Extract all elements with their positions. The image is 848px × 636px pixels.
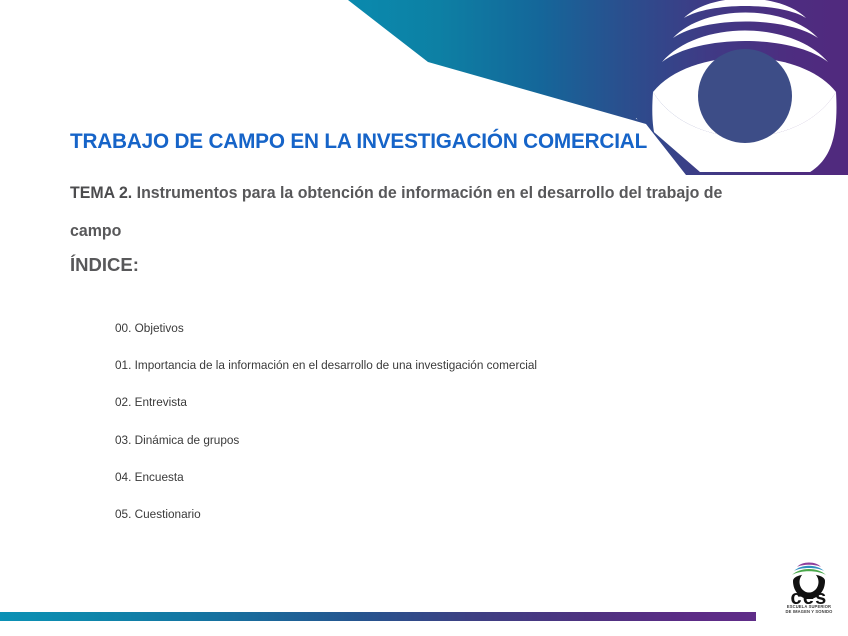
logo-tagline-line2: DE IMAGEN Y SONIDO (777, 609, 841, 614)
subtitle-body-text: Instrumentos para la obtención de inform… (70, 184, 722, 240)
slide-subtitle: TEMA 2. Instrumentos para la obtención d… (70, 154, 746, 250)
list-item: 02. Entrevista (115, 384, 723, 421)
index-list: 00. Objetivos 01. Importancia de la info… (115, 310, 755, 533)
ces-eye-icon: ces (777, 558, 841, 604)
index-heading: ÍNDICE: (70, 250, 770, 278)
list-item: 04. Encuesta (115, 459, 723, 496)
list-item: 00. Objetivos (115, 310, 723, 347)
presentation-slide: TRABAJO DE CAMPO EN LA INVESTIGACIÓN COM… (0, 0, 848, 636)
eye-arcs (662, 0, 828, 62)
list-item: 05. Cuestionario (115, 496, 723, 533)
svg-text:ces: ces (791, 587, 828, 604)
list-item: 03. Dinámica de grupos (115, 422, 723, 459)
page-title: TRABAJO DE CAMPO EN LA INVESTIGACIÓN COM… (70, 128, 746, 154)
ces-logo: ces ESCUELA SUPERIOR DE IMAGEN Y SONIDO (777, 558, 841, 620)
slide-content: TRABAJO DE CAMPO EN LA INVESTIGACIÓN COM… (70, 128, 770, 278)
subtitle-tema-label: TEMA 2. (70, 184, 132, 202)
list-item: 01. Importancia de la información en el … (115, 347, 723, 384)
footer-gradient-bar (0, 612, 756, 621)
